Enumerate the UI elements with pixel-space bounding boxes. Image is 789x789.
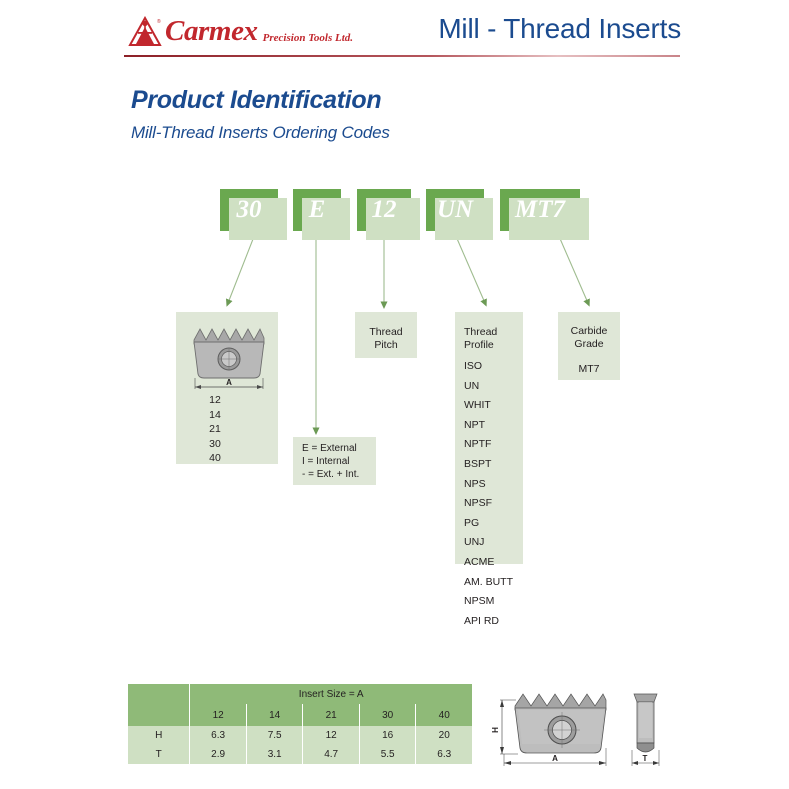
code-box-insert-size[interactable]: 30 xyxy=(220,189,278,231)
carbide-grade-title-line1: Carbide xyxy=(558,325,620,338)
code-box-carbide-grade[interactable]: MT7 xyxy=(500,189,580,231)
table-cell: 6.3 xyxy=(416,745,472,764)
header-divider xyxy=(124,55,680,57)
code-box-label: 30 xyxy=(237,196,262,224)
thread-profile-item: ACME xyxy=(464,553,513,573)
thread-profile-item: API RD xyxy=(464,612,513,632)
code-box-thread-type[interactable]: E xyxy=(293,189,341,231)
thread-profile-item: NPS xyxy=(464,475,513,495)
size-option: 21 xyxy=(200,422,230,437)
table-cell: 20 xyxy=(416,726,472,745)
thread-pitch-title-line1: Thread xyxy=(355,326,417,339)
thread-profile-item: NPTF xyxy=(464,435,513,455)
size-option: 12 xyxy=(200,393,230,408)
page-title: Product Identification xyxy=(131,86,381,115)
table-col-header: 12 xyxy=(190,704,247,726)
thread-profile-item: NPSM xyxy=(464,592,513,612)
insert-size-list: 12 14 21 30 40 xyxy=(200,393,230,466)
brand-logo: ® Carmex Precision Tools Ltd. xyxy=(128,16,353,48)
size-option: 14 xyxy=(200,408,230,423)
brand-name: Carmex xyxy=(165,17,258,46)
thread-profile-item: PG xyxy=(464,514,513,534)
code-box-label: 12 xyxy=(372,196,397,224)
size-option: 40 xyxy=(200,451,230,466)
code-box-label: UN xyxy=(437,196,473,224)
code-box-thread-pitch[interactable]: 12 xyxy=(357,189,411,231)
thread-profile-title-line2: Profile xyxy=(464,339,497,352)
thread-type-line: - = Ext. + Int. xyxy=(302,469,359,482)
carbide-grade-value: MT7 xyxy=(558,360,620,380)
table-group-header: Insert Size = A xyxy=(190,684,472,704)
table-row-label: H xyxy=(128,726,190,745)
carmex-triangle-logo-icon: ® xyxy=(128,16,162,48)
insert-front-view-drawing: H A xyxy=(491,694,606,766)
table-cell: 16 xyxy=(359,726,416,745)
carbide-grade-title-line2: Grade xyxy=(558,338,620,351)
code-box-label: MT7 xyxy=(515,196,565,224)
thread-profile-item: AM. BUTT xyxy=(464,573,513,593)
brand-tagline: Precision Tools Ltd. xyxy=(263,32,353,44)
svg-text:®: ® xyxy=(157,18,161,25)
panel-thread-profile: Thread Profile ISO UN WHIT NPT NPTF BSPT… xyxy=(455,312,523,564)
thread-profile-item: WHIT xyxy=(464,396,513,416)
panel-carbide-grade: Carbide Grade MT7 xyxy=(558,312,620,380)
page-header: ® Carmex Precision Tools Ltd. Mill - Thr… xyxy=(0,0,789,62)
dimension-label-t: T xyxy=(643,754,648,763)
dimension-label-h: H xyxy=(491,727,500,733)
table-cell: 7.5 xyxy=(246,726,303,745)
table-corner-cell xyxy=(128,684,190,726)
table-row: H 6.3 7.5 12 16 20 xyxy=(128,726,472,745)
connector-arrows xyxy=(0,0,789,789)
table-cell: 12 xyxy=(303,726,360,745)
header-title: Mill - Thread Inserts xyxy=(438,13,681,45)
table-row-group-header: Insert Size = A xyxy=(128,684,472,704)
thread-profile-item: UNJ xyxy=(464,533,513,553)
table-col-header: 30 xyxy=(359,704,416,726)
table-row: T 2.9 3.1 4.7 5.5 6.3 xyxy=(128,745,472,764)
thread-profile-item: NPSF xyxy=(464,494,513,514)
panel-thread-pitch: Thread Pitch xyxy=(355,312,417,358)
table-col-header: 21 xyxy=(303,704,360,726)
code-box-label: E xyxy=(309,196,326,224)
panel-thread-type: E = External I = Internal - = Ext. + Int… xyxy=(293,437,376,485)
table-col-header: 14 xyxy=(246,704,303,726)
panel-insert-size: A 12 14 21 30 40 xyxy=(176,312,278,464)
thread-type-line: E = External xyxy=(302,443,359,456)
thread-profile-item: ISO xyxy=(464,357,513,377)
dimension-label-a: A xyxy=(226,378,232,387)
code-box-thread-profile[interactable]: UN xyxy=(426,189,484,231)
technical-drawings: H A T xyxy=(482,686,682,781)
insert-front-view-icon: A xyxy=(182,318,274,396)
thread-type-line: I = Internal xyxy=(302,456,359,469)
insert-side-view-drawing: T xyxy=(632,694,659,766)
thread-profile-item: BSPT xyxy=(464,455,513,475)
thread-pitch-title-line2: Pitch xyxy=(355,339,417,352)
size-option: 30 xyxy=(200,437,230,452)
thread-profile-item: NPT xyxy=(464,416,513,436)
table-cell: 3.1 xyxy=(246,745,303,764)
table-cell: 2.9 xyxy=(190,745,247,764)
spec-table: Insert Size = A 12 14 21 30 40 H 6.3 7.5… xyxy=(128,684,472,764)
table-cell: 4.7 xyxy=(303,745,360,764)
table-cell: 5.5 xyxy=(359,745,416,764)
thread-profile-list: ISO UN WHIT NPT NPTF BSPT NPS NPSF PG UN… xyxy=(464,357,513,631)
thread-profile-title-line1: Thread xyxy=(464,326,497,339)
thread-profile-item: UN xyxy=(464,377,513,397)
table-cell: 6.3 xyxy=(190,726,247,745)
table-row-label: T xyxy=(128,745,190,764)
table-col-header: 40 xyxy=(416,704,472,726)
dimension-label-a: A xyxy=(552,754,558,763)
page-subtitle: Mill-Thread Inserts Ordering Codes xyxy=(131,123,390,143)
